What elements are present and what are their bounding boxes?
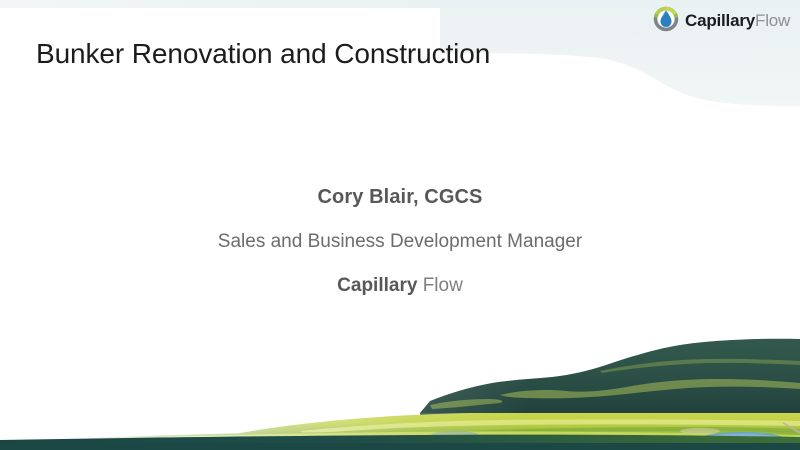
presenter-company: Capillary Flow	[0, 275, 800, 297]
brand-name: CapillaryFlow	[685, 12, 790, 29]
water-droplet-in-ring-icon	[652, 5, 680, 33]
brand-name-bold: Capillary	[685, 11, 755, 30]
presenter-name: Cory Blair, CGCS	[0, 186, 800, 209]
presentation-slide: CapillaryFlow Bunker Renovation and Cons…	[0, 0, 800, 450]
slide-title: Bunker Renovation and Construction	[36, 38, 490, 70]
presenter-role: Sales and Business Development Manager	[0, 231, 800, 253]
golf-course-landscape-image	[0, 335, 800, 450]
brand-name-light: Flow	[755, 11, 790, 30]
presenter-block: Cory Blair, CGCS Sales and Business Deve…	[0, 186, 800, 297]
presenter-company-bold: Capillary	[337, 275, 417, 296]
brand-logo: CapillaryFlow	[652, 4, 790, 34]
presenter-company-regular: Flow	[423, 275, 463, 296]
